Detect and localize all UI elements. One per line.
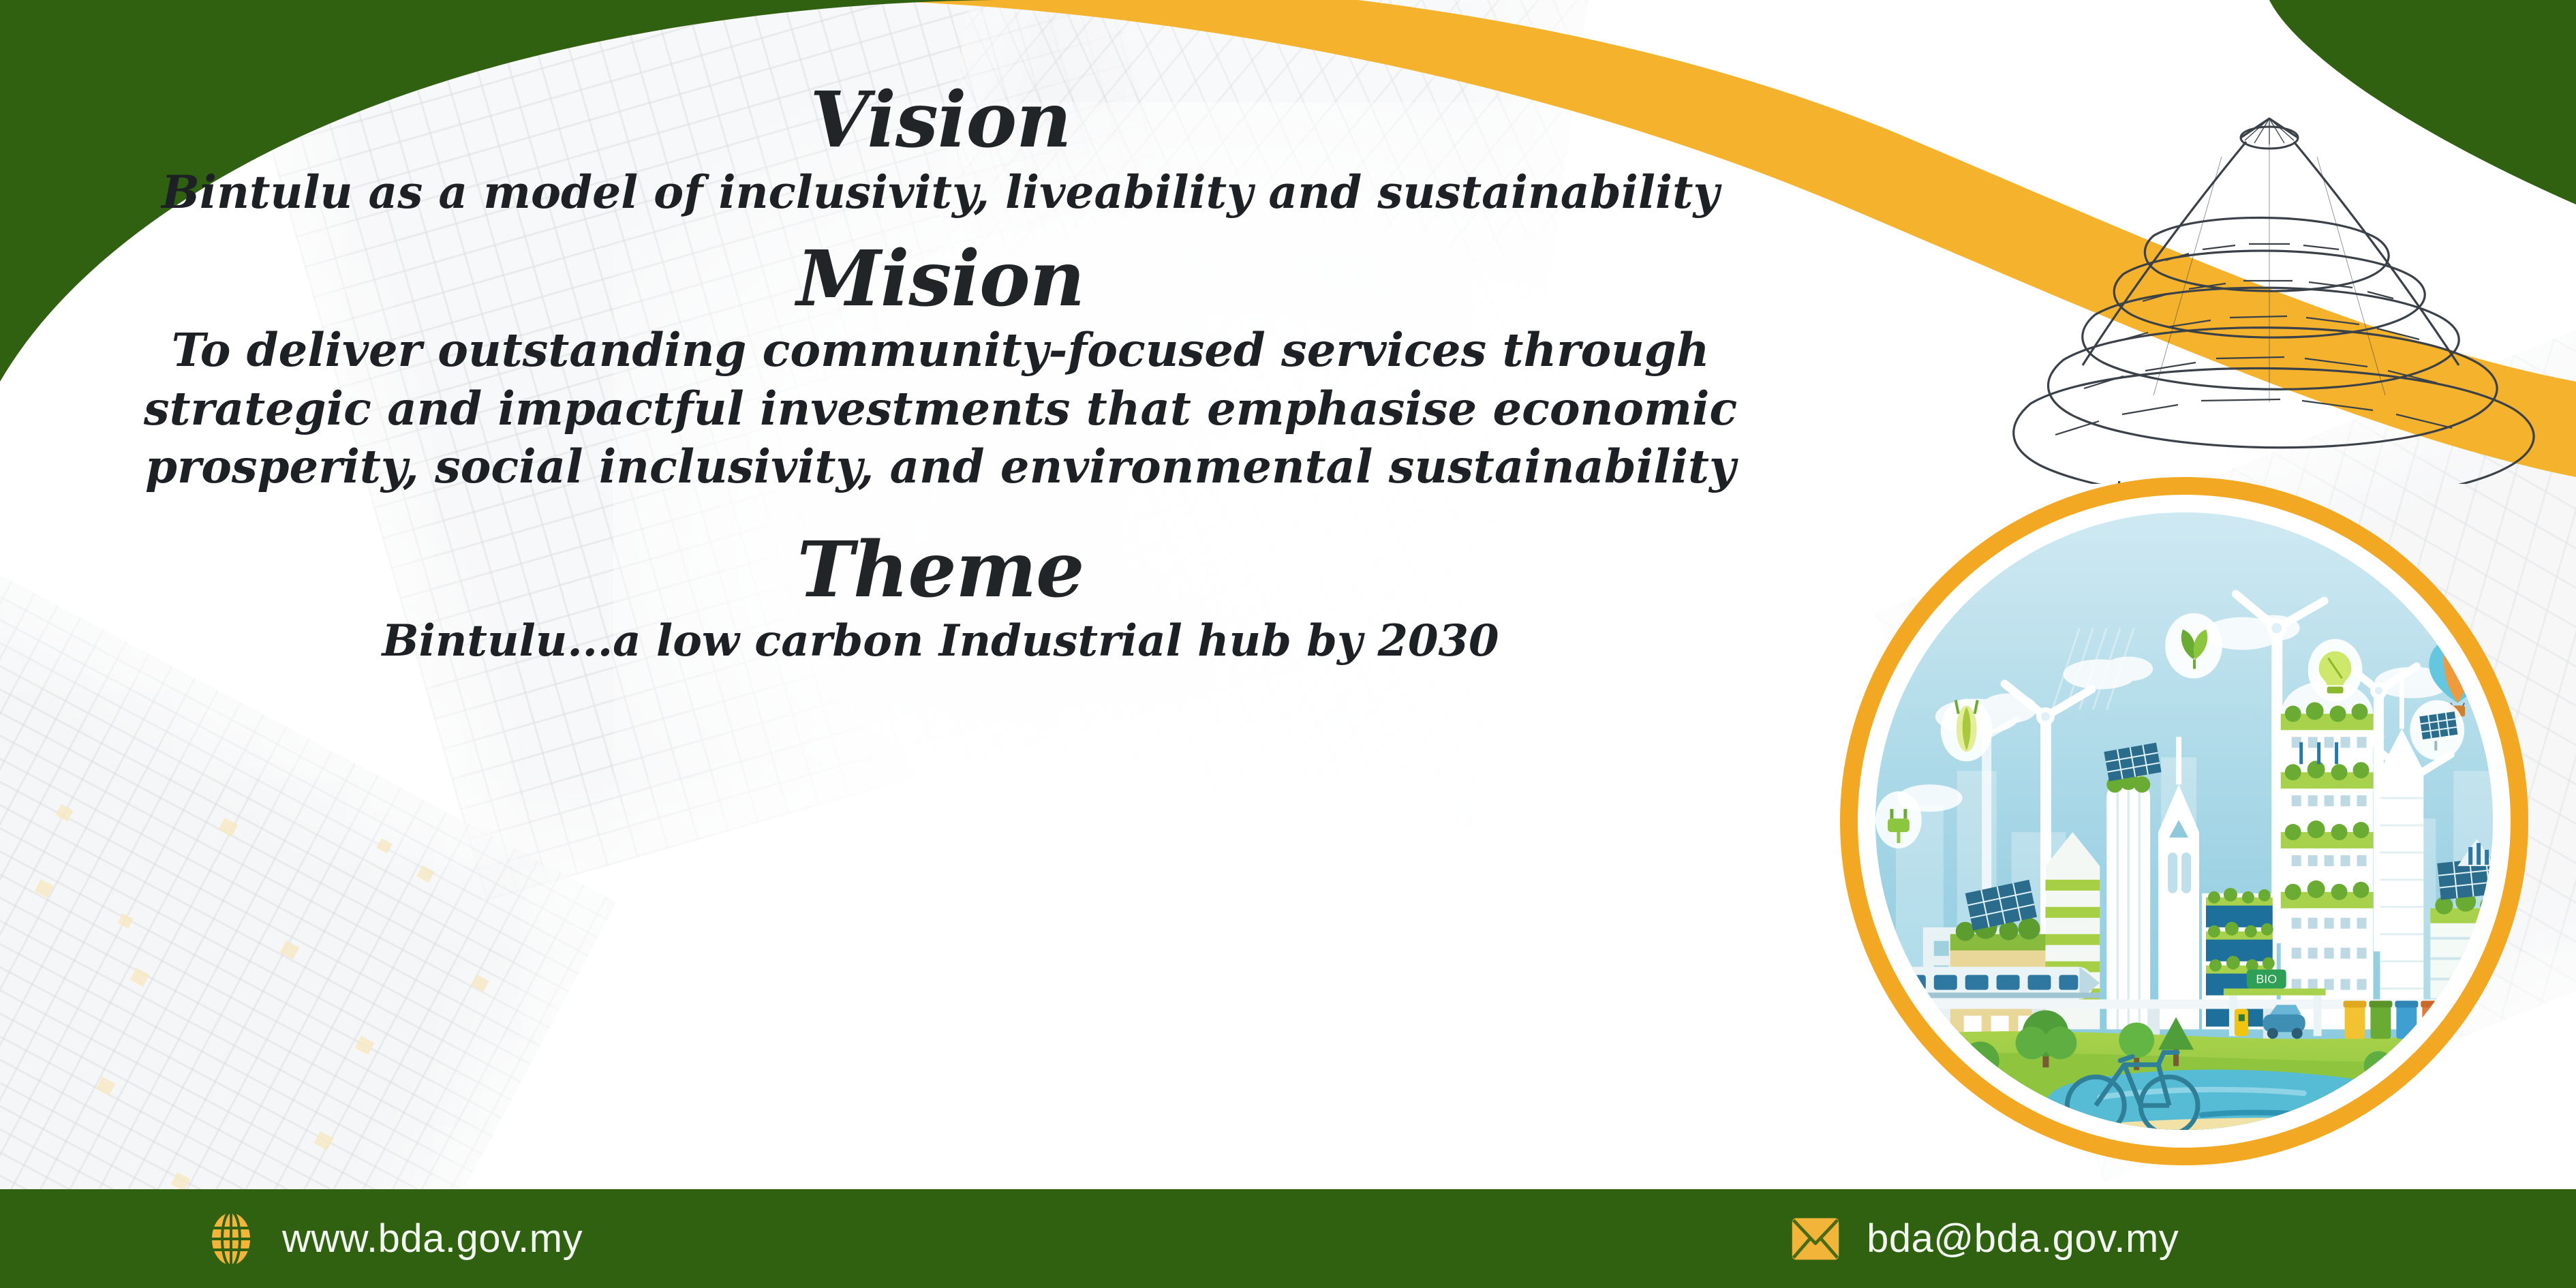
bda-vision-mission-banner: BIO <box>0 0 2576 1288</box>
theme-heading: Theme <box>0 532 1881 609</box>
website-contact[interactable]: www.bda.gov.my <box>204 1210 583 1268</box>
vision-block: Vision Bintulu as a model of inclusivity… <box>0 82 1881 221</box>
email-label: bda@bda.gov.my <box>1867 1216 2179 1261</box>
theme-block: Theme Bintulu...a low carbon Industrial … <box>0 532 1881 669</box>
eco-city-illustration: BIO <box>1840 477 2528 1165</box>
text-content: Vision Bintulu as a model of inclusivity… <box>0 82 1881 669</box>
mision-line-3: prosperity, social inclusivity, and envi… <box>0 438 1881 496</box>
website-label: www.bda.gov.my <box>282 1216 583 1261</box>
email-contact[interactable]: bda@bda.gov.my <box>1789 1210 2179 1268</box>
theme-line-1: Bintulu...a low carbon Industrial hub by… <box>0 613 1881 669</box>
envelope-icon <box>1789 1210 1842 1268</box>
mision-line-1: To deliver outstanding community-focused… <box>0 321 1881 380</box>
mision-body: To deliver outstanding community-focused… <box>0 321 1881 496</box>
svg-text:BIO: BIO <box>2256 972 2277 986</box>
mision-block: Mision To deliver outstanding community-… <box>0 241 1881 496</box>
mision-heading: Mision <box>0 241 1881 318</box>
vision-heading: Vision <box>0 82 1881 159</box>
contact-footer: www.bda.gov.my bda@bda.gov.my <box>0 1189 2576 1288</box>
globe-icon <box>204 1210 258 1268</box>
bintulu-dome-line-art <box>1949 102 2576 484</box>
mision-line-2: strategic and impactful investments that… <box>0 380 1881 438</box>
vision-line-1: Bintulu as a model of inclusivity, livea… <box>0 164 1881 221</box>
